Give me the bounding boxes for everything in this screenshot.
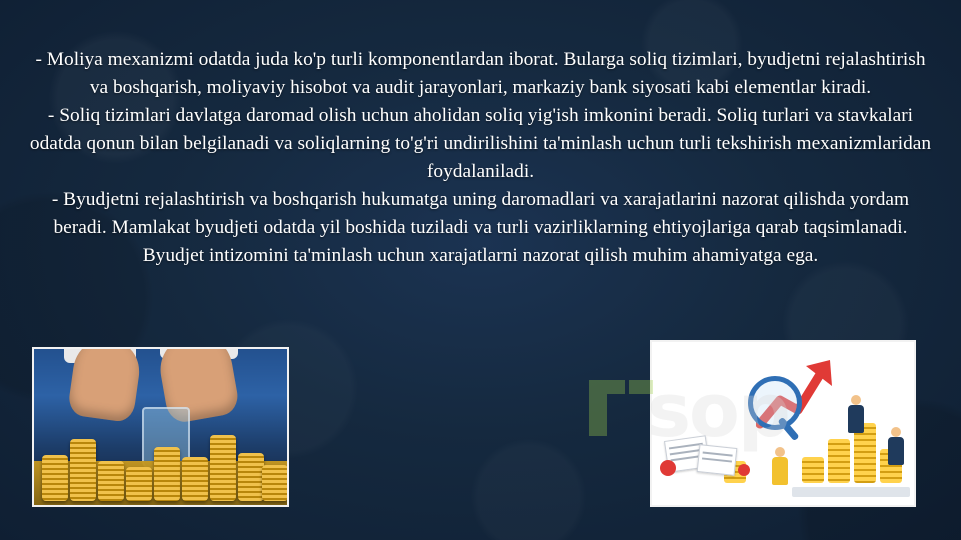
paragraph-2: - Soliq tizimlari davlatga daromad olish… [28,102,933,186]
coin-stack-3 [98,461,124,501]
coin-stack-2 [70,439,96,501]
person-on-stack [848,395,864,433]
coin-stack-4 [126,467,152,501]
coin-stack-8 [238,453,264,501]
red-dot-2 [738,464,750,476]
red-dot-1 [660,460,676,476]
paragraph-3: - Byudjetni rejalashtirish va boshqarish… [28,186,933,270]
person-right [888,427,904,465]
document-card-2 [697,444,738,476]
coin-stack-7 [210,435,236,501]
hands-stacking-coins-photo [32,347,289,507]
slide-body-text: - Moliya mexanizmi odatda juda ko'p turl… [28,46,933,270]
person-yellow [772,447,788,485]
coin-stack-9 [262,465,288,501]
platform-base [792,487,910,497]
financial-growth-infographic-photo [650,340,916,507]
hand-left [67,347,143,423]
watermark-logo-icon [585,372,657,444]
coin-stack-6 [182,457,208,501]
gold-stack-1 [802,457,824,483]
coin-stack-5 [154,447,180,501]
slide-canvas: - Moliya mexanizmi odatda juda ko'p turl… [0,0,961,540]
coin-stack-1 [42,455,68,501]
magnifier-icon [748,376,802,430]
paragraph-1: - Moliya mexanizmi odatda juda ko'p turl… [28,46,933,102]
gold-stack-2 [828,439,850,483]
